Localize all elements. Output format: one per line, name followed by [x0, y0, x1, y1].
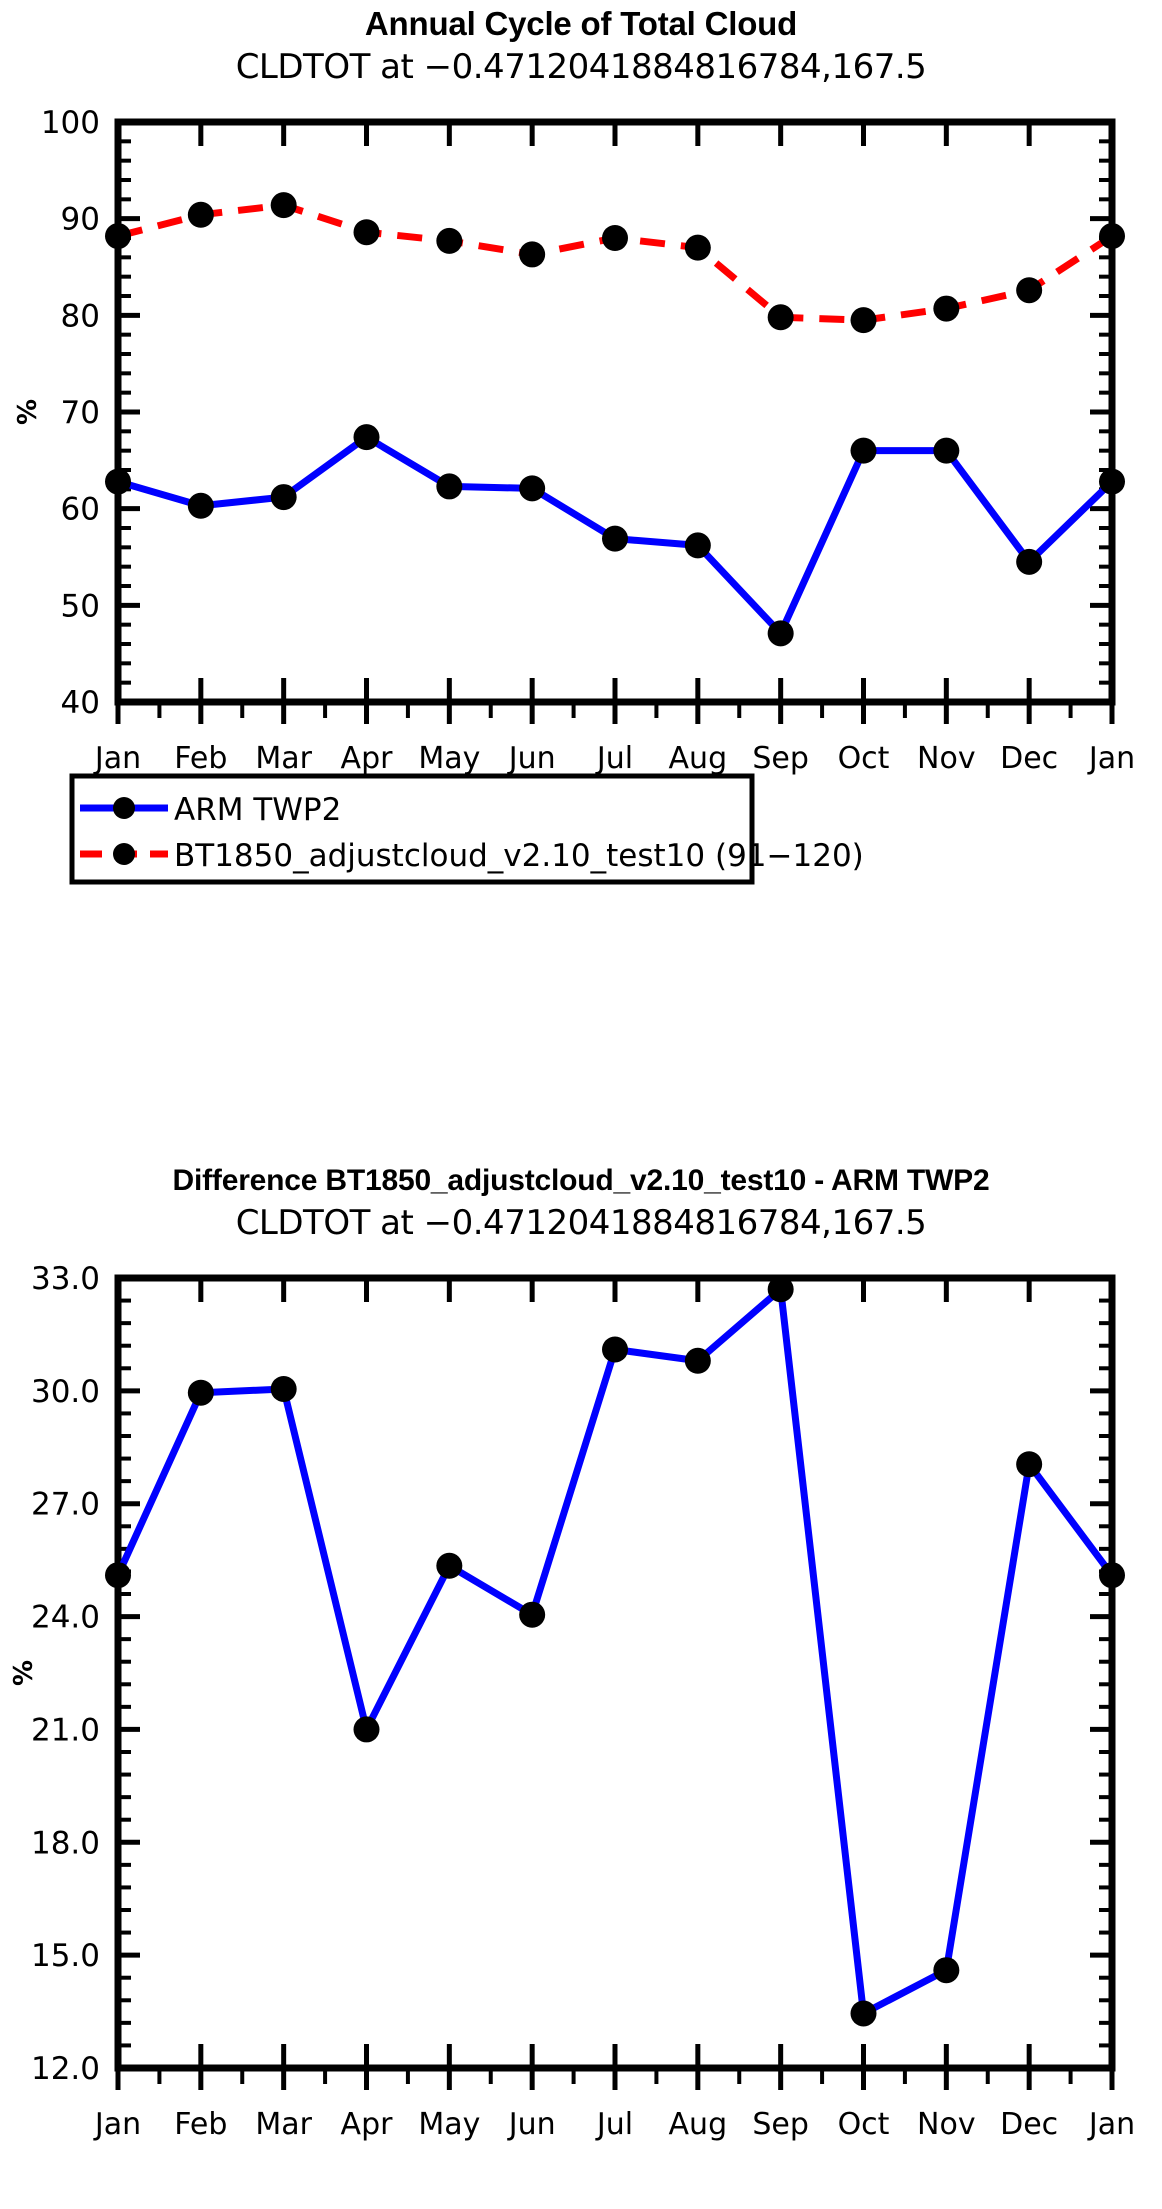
y-tick-label: 18.0: [31, 1825, 100, 1861]
y-tick-label: 30.0: [31, 1374, 100, 1410]
data-point: [519, 1602, 545, 1628]
top-plot-area: 405060708090100JanFebMarAprMayJunJulAugS…: [0, 88, 1162, 1048]
y-tick-label: 40: [61, 685, 100, 721]
data-point: [933, 1957, 959, 1983]
x-tick-label: Aug: [669, 2107, 728, 2142]
data-point: [1016, 549, 1042, 575]
y-tick-label: 100: [41, 105, 100, 141]
x-tick-label: Sep: [752, 741, 809, 776]
y-tick-label: 15.0: [31, 1938, 100, 1974]
x-tick-label: May: [418, 741, 480, 776]
plot-frame: [118, 122, 1112, 702]
y-tick-label: 80: [61, 298, 100, 334]
plot-frame: [118, 1278, 1112, 2068]
x-tick-label: Oct: [838, 2107, 890, 2142]
x-tick-label: Jan: [93, 741, 141, 776]
x-tick-label: Jun: [507, 2107, 556, 2142]
y-tick-label: 90: [61, 202, 100, 238]
data-point: [1099, 469, 1125, 495]
y-tick-label: 70: [61, 395, 100, 431]
data-point: [105, 1562, 131, 1588]
x-tick-label: Dec: [1000, 741, 1058, 776]
data-point: [851, 2000, 877, 2026]
data-point: [105, 223, 131, 249]
x-tick-label: Oct: [838, 741, 890, 776]
data-point: [1099, 1562, 1125, 1588]
data-point: [354, 219, 380, 245]
data-point: [685, 235, 711, 261]
data-point: [1016, 1451, 1042, 1477]
data-point: [602, 526, 628, 552]
y-tick-label: 27.0: [31, 1487, 100, 1523]
data-point: [519, 475, 545, 501]
data-point: [1016, 277, 1042, 303]
x-tick-label: Jul: [595, 741, 633, 776]
data-point: [105, 469, 131, 495]
x-tick-label: Feb: [174, 741, 227, 776]
x-tick-label: Feb: [174, 2107, 227, 2142]
data-point: [271, 192, 297, 218]
data-point: [602, 225, 628, 251]
x-tick-label: Nov: [917, 741, 976, 776]
data-point: [602, 1336, 628, 1362]
data-point: [436, 1553, 462, 1579]
data-point: [188, 202, 214, 228]
data-point: [685, 532, 711, 558]
data-point: [933, 296, 959, 322]
y-tick-label: 24.0: [31, 1600, 100, 1636]
data-point: [271, 484, 297, 510]
top-chart-title: Annual Cycle of Total Cloud: [0, 0, 1162, 44]
y-tick-label: 33.0: [31, 1261, 100, 1297]
data-point: [851, 438, 877, 464]
data-point: [188, 1380, 214, 1406]
legend-label-0: ARM TWP2: [174, 792, 341, 828]
data-point: [354, 424, 380, 450]
bottom-plot-svg: 12.015.018.021.024.027.030.033.0JanFebMa…: [0, 1244, 1162, 2204]
x-tick-label: Jan: [1087, 741, 1135, 776]
data-point: [188, 493, 214, 519]
bottom-chart-subtitle: CLDTOT at −0.4712041884816784,167.5: [0, 1200, 1162, 1244]
x-tick-label: Mar: [255, 2107, 312, 2142]
series-line-difference: [118, 1289, 1112, 2013]
x-tick-label: Apr: [341, 2107, 394, 2142]
data-point: [768, 620, 794, 646]
x-tick-label: Sep: [752, 2107, 809, 2142]
data-point: [436, 228, 462, 254]
x-tick-label: Jan: [1087, 2107, 1135, 2142]
x-tick-label: Jul: [595, 2107, 633, 2142]
legend-marker-1: [113, 843, 135, 865]
data-point: [933, 438, 959, 464]
data-point: [768, 304, 794, 330]
legend-marker-0: [113, 797, 135, 819]
y-tick-label: 60: [61, 492, 100, 528]
bottom-plot-area: 12.015.018.021.024.027.030.033.0JanFebMa…: [0, 1244, 1162, 2204]
x-tick-label: May: [418, 2107, 480, 2142]
data-point: [851, 307, 877, 333]
x-tick-label: Nov: [917, 2107, 976, 2142]
y-axis-label: %: [9, 1660, 39, 1686]
bottom-chart-panel: Difference BT1850_adjustcloud_v2.10_test…: [0, 1160, 1162, 2209]
y-axis-label: %: [13, 399, 43, 425]
top-chart-subtitle: CLDTOT at −0.4712041884816784,167.5: [0, 44, 1162, 88]
x-tick-label: Jun: [507, 741, 556, 776]
top-plot-svg: 405060708090100JanFebMarAprMayJunJulAugS…: [0, 88, 1162, 1048]
bottom-chart-title: Difference BT1850_adjustcloud_v2.10_test…: [0, 1160, 1162, 1200]
data-point: [519, 241, 545, 267]
top-chart-panel: Annual Cycle of Total Cloud CLDTOT at −0…: [0, 0, 1162, 1135]
x-tick-label: Jan: [93, 2107, 141, 2142]
data-point: [354, 1716, 380, 1742]
y-tick-label: 12.0: [31, 2051, 100, 2087]
y-tick-label: 21.0: [31, 1712, 100, 1748]
y-tick-label: 50: [61, 588, 100, 624]
data-point: [271, 1376, 297, 1402]
series-line-bt1850-adjustcloud-v2-10-test10-91-120-: [118, 205, 1112, 320]
data-point: [685, 1348, 711, 1374]
data-point: [436, 473, 462, 499]
data-point: [1099, 223, 1125, 249]
x-tick-label: Aug: [669, 741, 728, 776]
data-point: [768, 1276, 794, 1302]
x-tick-label: Mar: [255, 741, 312, 776]
legend-label-1: BT1850_adjustcloud_v2.10_test10 (91−120): [174, 838, 864, 874]
x-tick-label: Dec: [1000, 2107, 1058, 2142]
x-tick-label: Apr: [341, 741, 394, 776]
